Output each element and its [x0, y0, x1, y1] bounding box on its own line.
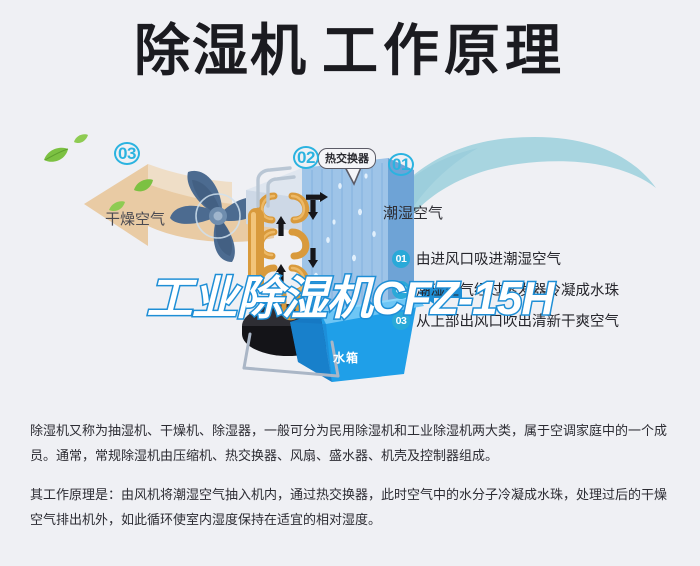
- dry-air-label: 干燥空气: [105, 208, 165, 229]
- step-number: 02: [392, 281, 410, 299]
- step-number: 03: [392, 312, 410, 330]
- page-title: 除湿机工作原理: [0, 22, 700, 81]
- humid-air-label: 潮湿空气: [383, 202, 443, 223]
- body-copy: 除湿机又称为抽湿机、干燥机、除湿器，一般可分为民用除湿机和工业除湿机两大类，属于…: [30, 418, 674, 546]
- step-text: 由进风口吸进潮湿空气: [416, 248, 561, 269]
- step-text: 从上部出风口吹出清新干爽空气: [416, 310, 619, 331]
- heat-exchanger-callout: 热交换器: [318, 148, 376, 169]
- list-item: 01 由进风口吸进潮湿空气: [392, 243, 692, 274]
- step-number: 01: [392, 250, 410, 268]
- steps-list: 01 由进风口吸进潮湿空气 02 潮湿空气经过蒸发器冷凝成水珠 03 从上部出风…: [392, 243, 692, 336]
- list-item: 02 潮湿空气经过蒸发器冷凝成水珠: [392, 274, 692, 305]
- leaf-icon: [73, 133, 89, 146]
- leaf-icon: [132, 178, 154, 195]
- badge-01: 01: [388, 153, 414, 176]
- paragraph-1: 除湿机又称为抽湿机、干燥机、除湿器，一般可分为民用除湿机和工业除湿机两大类，属于…: [30, 418, 674, 468]
- title-part-1: 除湿机: [134, 19, 308, 82]
- water-tank-label: 水箱: [333, 349, 359, 366]
- badge-02: 02: [293, 146, 319, 169]
- poster-root: 除湿机工作原理: [0, 0, 700, 566]
- title-part-2: 工作原理: [322, 19, 566, 82]
- paragraph-2: 其工作原理是：由风机将潮湿空气抽入机内，通过热交换器，此时空气中的水分子冷凝成水…: [30, 482, 674, 532]
- badge-03: 03: [114, 142, 140, 165]
- leaf-icon: [42, 146, 70, 166]
- list-item: 03 从上部出风口吹出清新干爽空气: [392, 305, 692, 336]
- step-text: 潮湿空气经过蒸发器冷凝成水珠: [416, 279, 619, 300]
